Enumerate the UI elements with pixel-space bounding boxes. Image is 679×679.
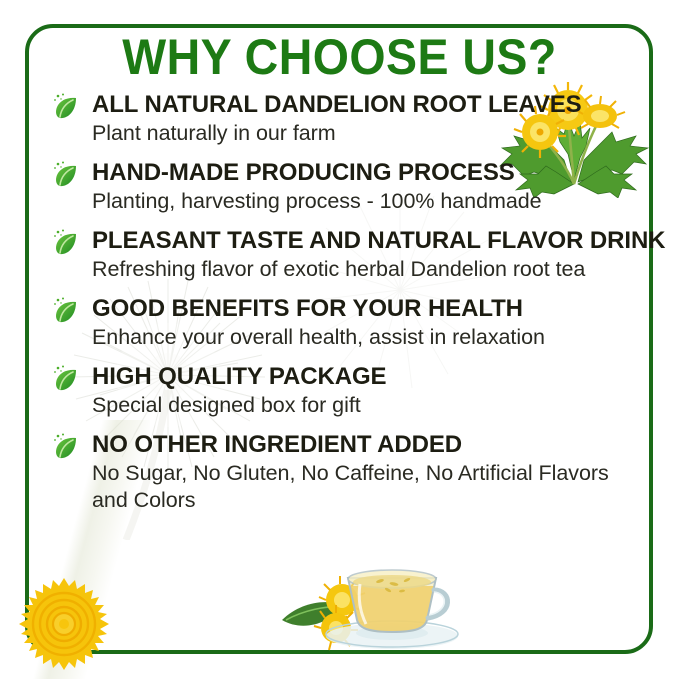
leaf-icon (52, 228, 82, 258)
list-item: HIGH QUALITY PACKAGE Special designed bo… (52, 364, 642, 419)
list-item: ALL NATURAL DANDELION ROOT LEAVES Plant … (52, 92, 642, 147)
list-item: NO OTHER INGREDIENT ADDED No Sugar, No G… (52, 432, 642, 514)
feature-subtext: Planting, harvesting process - 100% hand… (92, 188, 642, 215)
feature-heading: HAND-MADE PRODUCING PROCESS (92, 160, 642, 186)
feature-heading: NO OTHER INGREDIENT ADDED (92, 432, 642, 458)
list-item: PLEASANT TASTE AND NATURAL FLAVOR DRINK … (52, 228, 642, 283)
feature-subtext: Enhance your overall health, assist in r… (92, 324, 642, 351)
list-item: GOOD BENEFITS FOR YOUR HEALTH Enhance yo… (52, 296, 642, 351)
feature-heading: HIGH QUALITY PACKAGE (92, 364, 642, 390)
sunflower-illustration (18, 578, 110, 670)
feature-subtext: Special designed box for gift (92, 392, 642, 419)
feature-subtext: Refreshing flavor of exotic herbal Dande… (92, 256, 642, 283)
list-item: HAND-MADE PRODUCING PROCESS Planting, ha… (52, 160, 642, 215)
feature-list: ALL NATURAL DANDELION ROOT LEAVES Plant … (52, 92, 642, 514)
feature-heading: PLEASANT TASTE AND NATURAL FLAVOR DRINK (92, 228, 642, 254)
why-choose-us-infographic: WHY CHOOSE US? (0, 0, 679, 679)
leaf-icon (52, 432, 82, 462)
leaf-icon (52, 296, 82, 326)
feature-subtext: Plant naturally in our farm (92, 120, 642, 147)
feature-heading: GOOD BENEFITS FOR YOUR HEALTH (92, 296, 642, 322)
leaf-icon (52, 160, 82, 190)
leaf-icon (52, 92, 82, 122)
leaf-icon (52, 364, 82, 394)
tea-cup-illustration (276, 548, 466, 653)
feature-subtext: No Sugar, No Gluten, No Caffeine, No Art… (92, 460, 637, 514)
feature-heading: ALL NATURAL DANDELION ROOT LEAVES (92, 92, 642, 118)
